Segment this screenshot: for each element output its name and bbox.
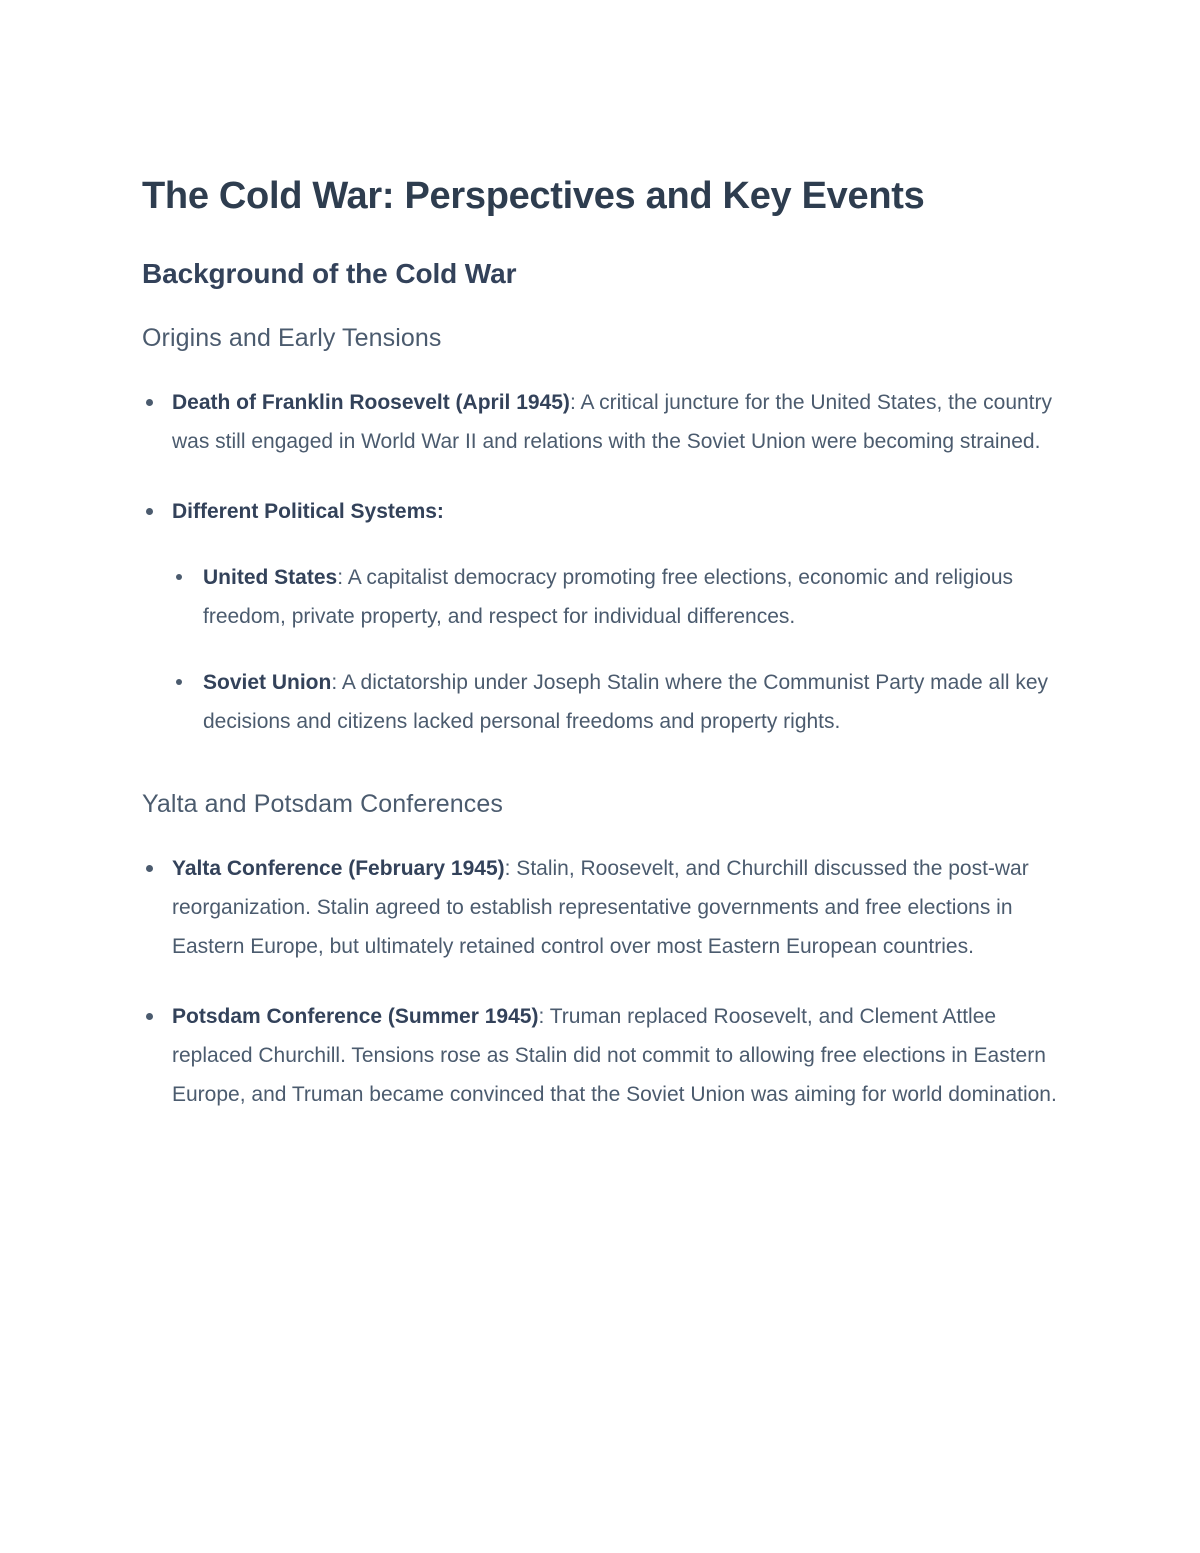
bullet-marker-icon xyxy=(146,865,153,872)
list-item: United States: A capitalist democracy pr… xyxy=(172,558,1057,636)
nested-bullet-list-political-systems: United States: A capitalist democracy pr… xyxy=(172,558,1057,741)
list-item: Potsdam Conference (Summer 1945): Truman… xyxy=(142,997,1057,1114)
list-item: Yalta Conference (February 1945): Stalin… xyxy=(142,849,1057,966)
nested-list-item-lead: United States xyxy=(203,566,337,589)
bullet-list-origins: Death of Franklin Roosevelt (April 1945)… xyxy=(142,383,1057,741)
bullet-marker-icon xyxy=(146,508,153,515)
bullet-marker-icon xyxy=(176,679,182,685)
nested-list-item-lead: Soviet Union xyxy=(203,671,331,694)
list-item: Death of Franklin Roosevelt (April 1945)… xyxy=(142,383,1057,461)
subsection-heading-yalta-potsdam: Yalta and Potsdam Conferences xyxy=(142,787,1057,821)
bullet-marker-icon xyxy=(146,1013,153,1020)
list-item-lead: Potsdam Conference (Summer 1945) xyxy=(172,1005,538,1028)
list-item: Different Political Systems: United Stat… xyxy=(142,492,1057,741)
subsection-heading-origins: Origins and Early Tensions xyxy=(142,321,1057,355)
bullet-list-conferences: Yalta Conference (February 1945): Stalin… xyxy=(142,849,1057,1114)
bullet-marker-icon xyxy=(146,399,153,406)
bullet-marker-icon xyxy=(176,574,182,580)
section-heading-background: Background of the Cold War xyxy=(142,255,1057,293)
list-item-lead: Death of Franklin Roosevelt (April 1945) xyxy=(172,391,570,414)
document-page: The Cold War: Perspectives and Key Event… xyxy=(0,0,1200,1553)
list-item-lead: Yalta Conference (February 1945) xyxy=(172,857,505,880)
page-title: The Cold War: Perspectives and Key Event… xyxy=(142,168,992,225)
list-item: Soviet Union: A dictatorship under Josep… xyxy=(172,663,1057,741)
list-item-lead: Different Political Systems: xyxy=(172,500,444,523)
